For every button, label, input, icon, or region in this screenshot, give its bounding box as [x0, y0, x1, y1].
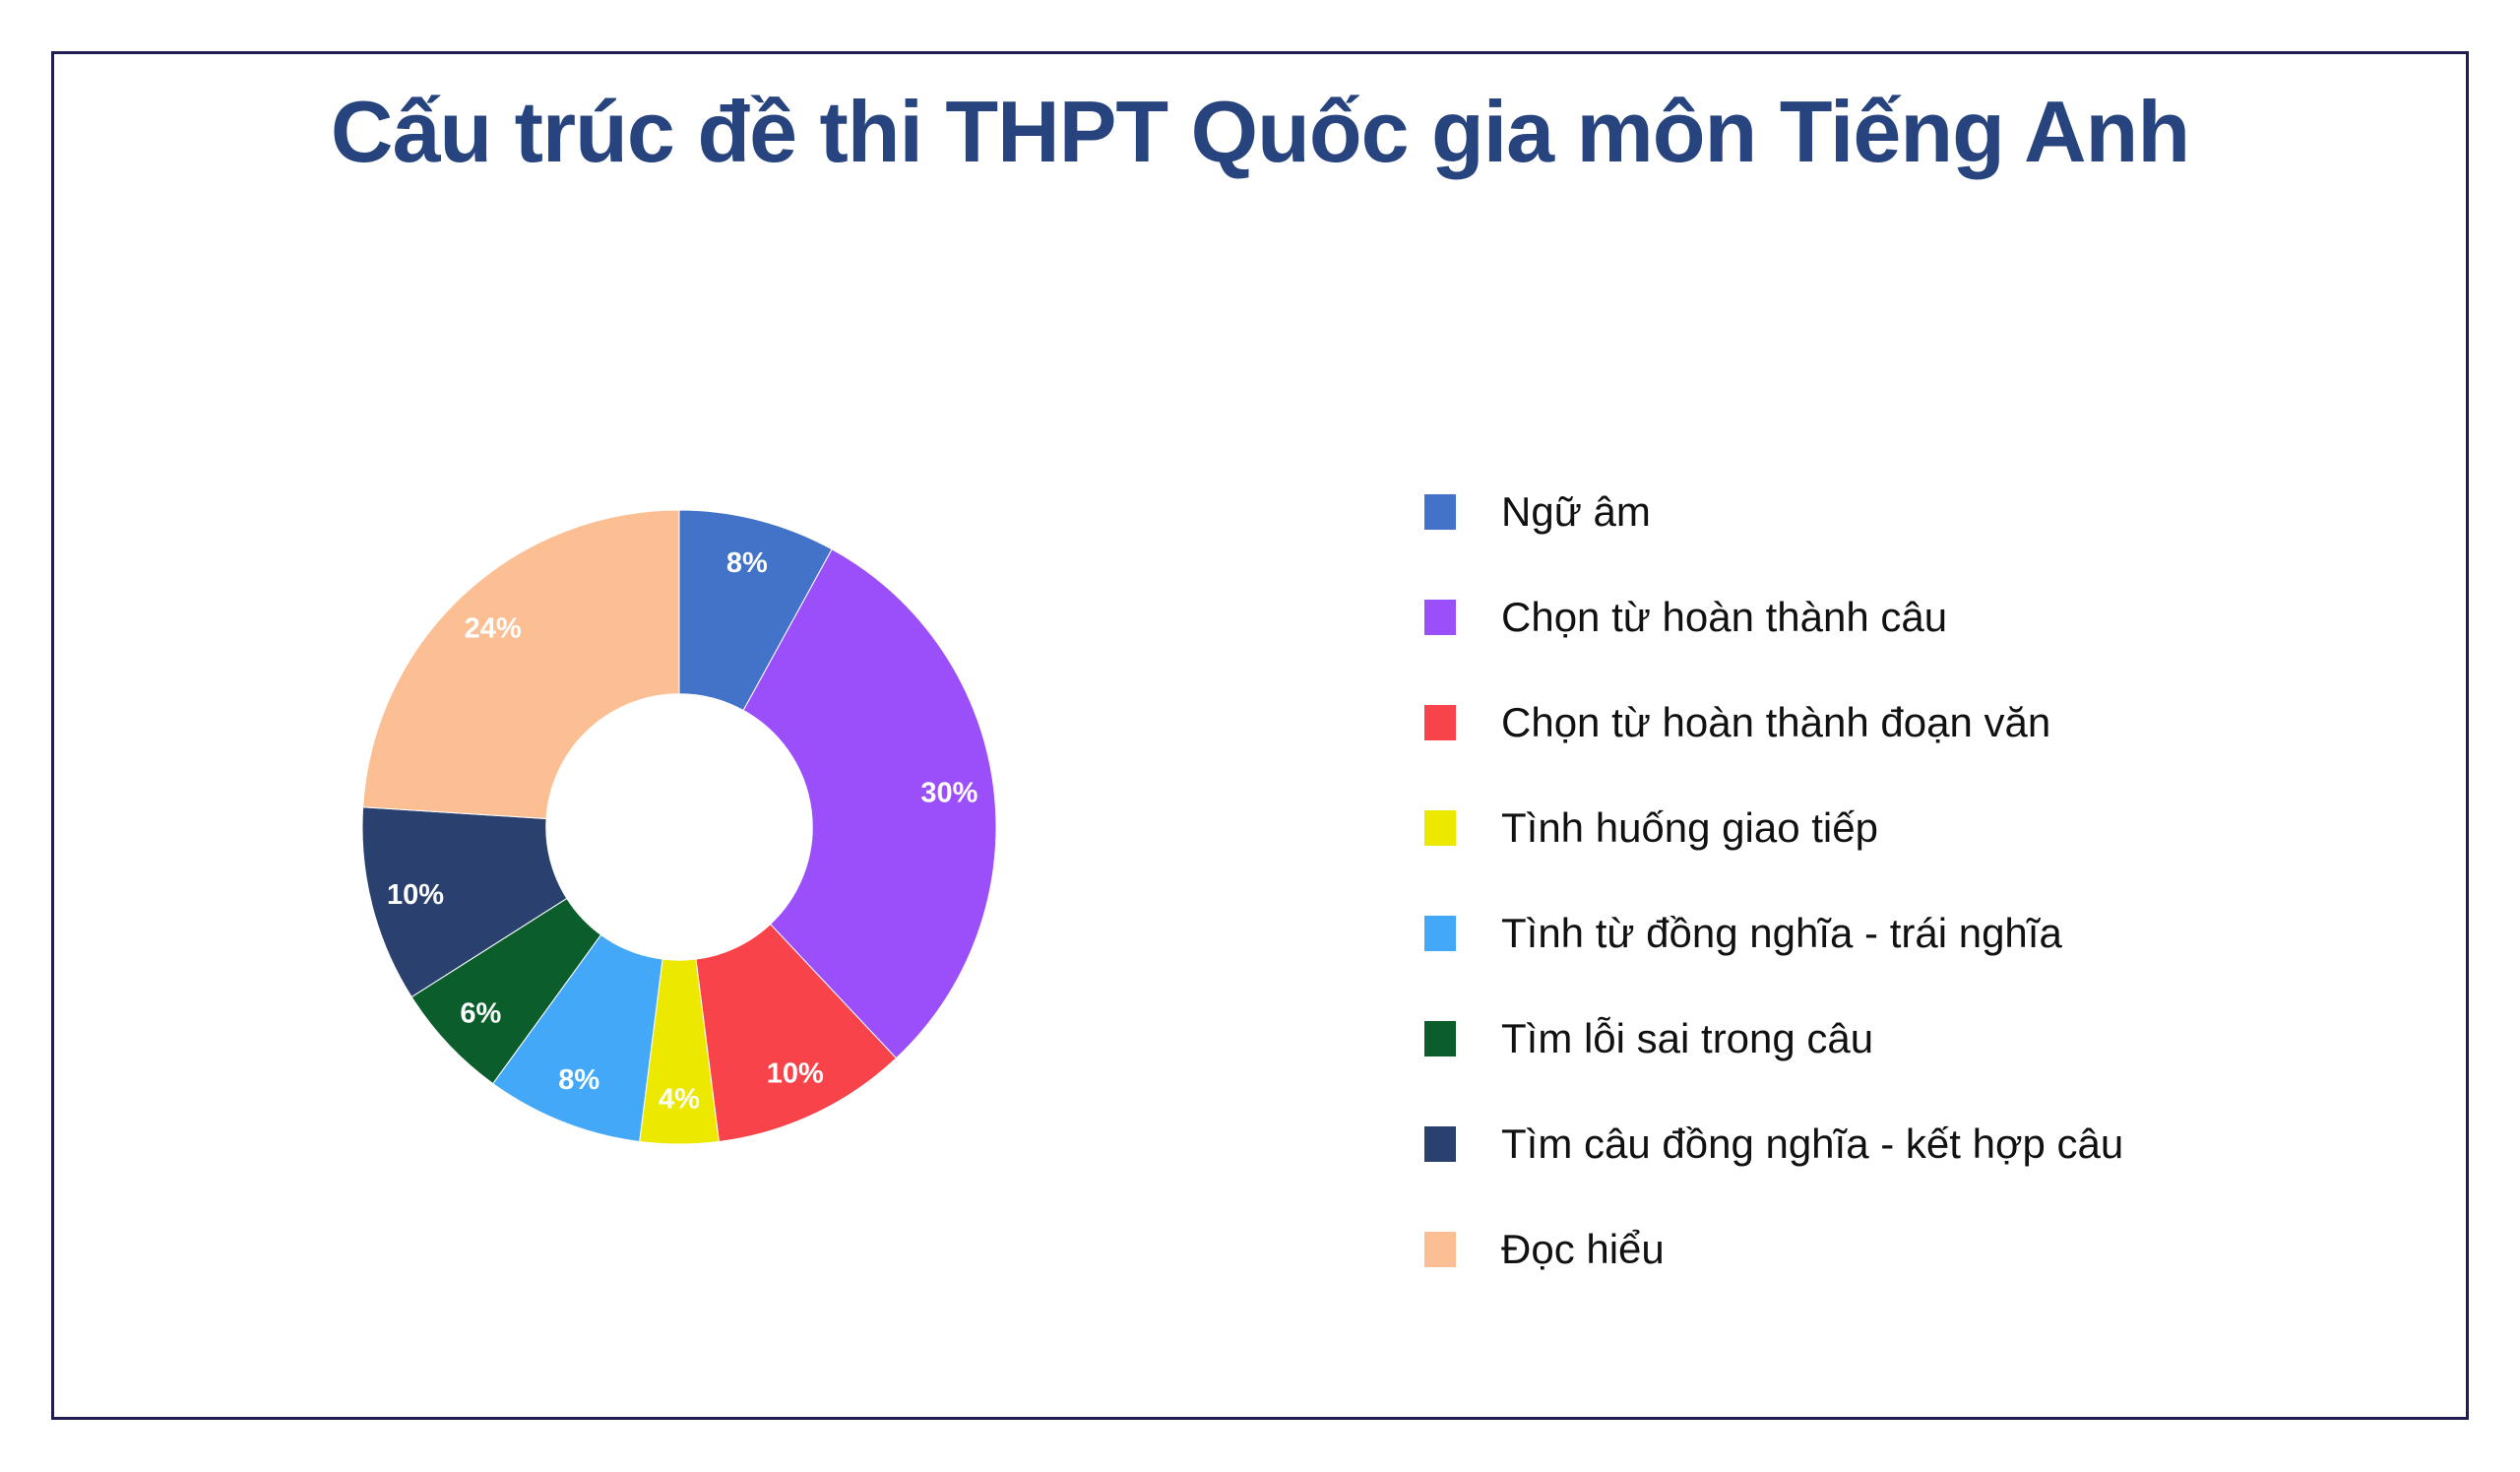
donut-slice-label: 10% — [767, 1057, 824, 1089]
legend-item-label: Tình huống giao tiếp — [1501, 807, 1878, 849]
chart-legend: Ngữ âmChọn từ hoàn thành câuChọn từ hoàn… — [1424, 459, 2409, 1302]
donut-chart: 8%30%10%4%8%6%10%24% — [354, 502, 1004, 1152]
donut-slice-label: 30% — [920, 777, 977, 808]
legend-item[interactable]: Tình huống giao tiếp — [1424, 775, 2409, 880]
legend-item-label: Tìm câu đồng nghĩa - kết hợp câu — [1501, 1123, 2123, 1165]
donut-slice-label: 10% — [387, 879, 444, 911]
chart-canvas: Cấu trúc đề thi THPT Quốc gia môn Tiếng … — [0, 0, 2520, 1472]
legend-color-swatch-icon — [1424, 810, 1456, 846]
donut-slice-label: 6% — [460, 997, 501, 1029]
legend-color-swatch-icon — [1424, 494, 1456, 530]
legend-item[interactable]: Chọn từ hoàn thành câu — [1424, 564, 2409, 670]
legend-color-swatch-icon — [1424, 1232, 1456, 1267]
legend-color-swatch-icon — [1424, 705, 1456, 740]
legend-color-swatch-icon — [1424, 1021, 1456, 1056]
legend-item-label: Ngữ âm — [1501, 491, 1651, 533]
legend-item-label: Chọn từ hoàn thành đoạn văn — [1501, 702, 2050, 743]
legend-item[interactable]: Ngữ âm — [1424, 459, 2409, 564]
legend-item[interactable]: Đọc hiểu — [1424, 1196, 2409, 1302]
legend-item[interactable]: Tìm lỗi sai trong câu — [1424, 986, 2409, 1091]
legend-item[interactable]: Tình từ đồng nghĩa - trái nghĩa — [1424, 880, 2409, 986]
legend-item-label: Tìm lỗi sai trong câu — [1501, 1018, 1873, 1059]
legend-color-swatch-icon — [1424, 916, 1456, 951]
legend-color-swatch-icon — [1424, 600, 1456, 635]
donut-slice-label: 24% — [465, 612, 522, 644]
legend-item-label: Chọn từ hoàn thành câu — [1501, 597, 1947, 638]
donut-slice-label: 8% — [558, 1064, 599, 1096]
donut-slice-label: 8% — [726, 547, 768, 579]
legend-item-label: Đọc hiểu — [1501, 1229, 1665, 1270]
legend-item-label: Tình từ đồng nghĩa - trái nghĩa — [1501, 913, 2062, 954]
legend-item[interactable]: Tìm câu đồng nghĩa - kết hợp câu — [1424, 1091, 2409, 1196]
donut-slice[interactable] — [363, 510, 679, 819]
legend-color-swatch-icon — [1424, 1126, 1456, 1162]
donut-chart-svg: 8%30%10%4%8%6%10%24% — [354, 502, 1004, 1152]
page-title: Cấu trúc đề thi THPT Quốc gia môn Tiếng … — [0, 85, 2520, 180]
legend-item[interactable]: Chọn từ hoàn thành đoạn văn — [1424, 670, 2409, 775]
donut-slice-group — [362, 510, 996, 1144]
donut-slice-label: 4% — [659, 1084, 700, 1116]
